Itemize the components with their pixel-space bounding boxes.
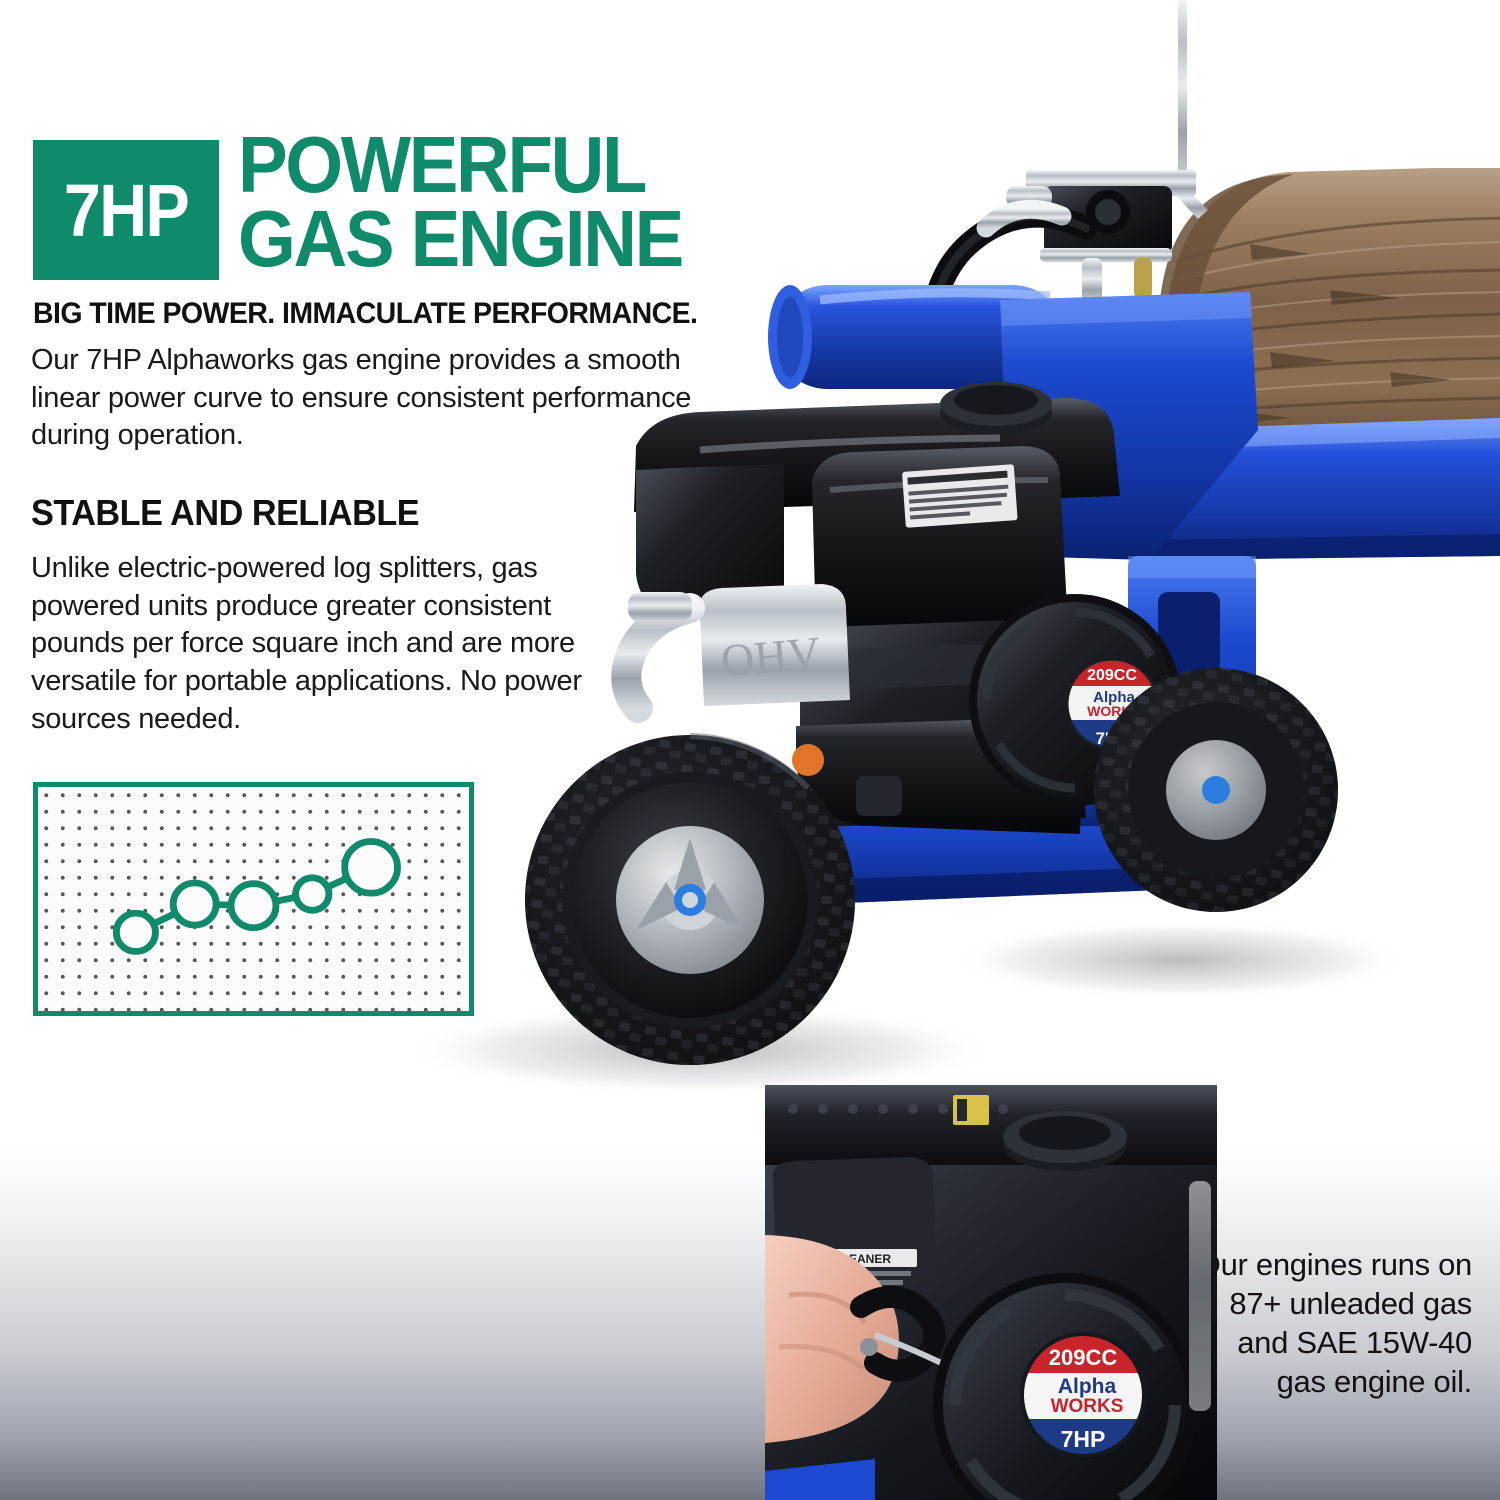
air-cleaner-label bbox=[902, 464, 1018, 528]
chart-data-point bbox=[296, 878, 329, 911]
page-title: POWERFUL GAS ENGINE bbox=[238, 128, 963, 275]
infographic-page: 209CC Alpha WORKS 7HP OHV bbox=[0, 0, 1500, 1500]
hp-badge-label: 7HP bbox=[64, 168, 188, 253]
subheadline: BIG TIME POWER. IMMACULATE PERFORMANCE. bbox=[33, 297, 697, 331]
section-paragraph: Unlike electric-powered log splitters, g… bbox=[31, 550, 621, 738]
chart-data-point bbox=[173, 883, 216, 925]
wheel-front bbox=[525, 735, 855, 1065]
svg-text:209CC: 209CC bbox=[1087, 667, 1137, 684]
svg-text:WORKS: WORKS bbox=[1051, 1396, 1124, 1417]
muffler-guard: OHV bbox=[699, 584, 850, 706]
oil-recommendation-note: Our engines runs on 87+ unleaded gas and… bbox=[1184, 1245, 1472, 1401]
power-curve-chart bbox=[33, 782, 474, 1016]
ohv-text: OHV bbox=[719, 627, 823, 686]
chart-data-point bbox=[116, 913, 155, 951]
power-curve-svg bbox=[38, 787, 469, 1011]
svg-text:209CC: 209CC bbox=[1049, 1345, 1118, 1370]
hp-badge: 7HP bbox=[33, 140, 219, 280]
fuel-cap bbox=[940, 382, 1052, 434]
chart-data-point bbox=[231, 884, 276, 928]
chart-data-point bbox=[345, 842, 398, 894]
inset-photo-recoil-start: AIR CLEANER bbox=[765, 1085, 1217, 1500]
headline-line-2: GAS ENGINE bbox=[238, 202, 963, 276]
svg-text:7HP: 7HP bbox=[1061, 1426, 1106, 1452]
section-title-stable-reliable: STABLE AND RELIABLE bbox=[31, 492, 419, 534]
wheel-rear bbox=[1094, 668, 1338, 912]
intro-paragraph: Our 7HP Alphaworks gas engine provides a… bbox=[31, 342, 741, 455]
svg-text:Alpha: Alpha bbox=[1058, 1375, 1117, 1398]
inset-engine-badge: 209CC Alpha WORKS 7HP bbox=[1021, 1333, 1145, 1459]
